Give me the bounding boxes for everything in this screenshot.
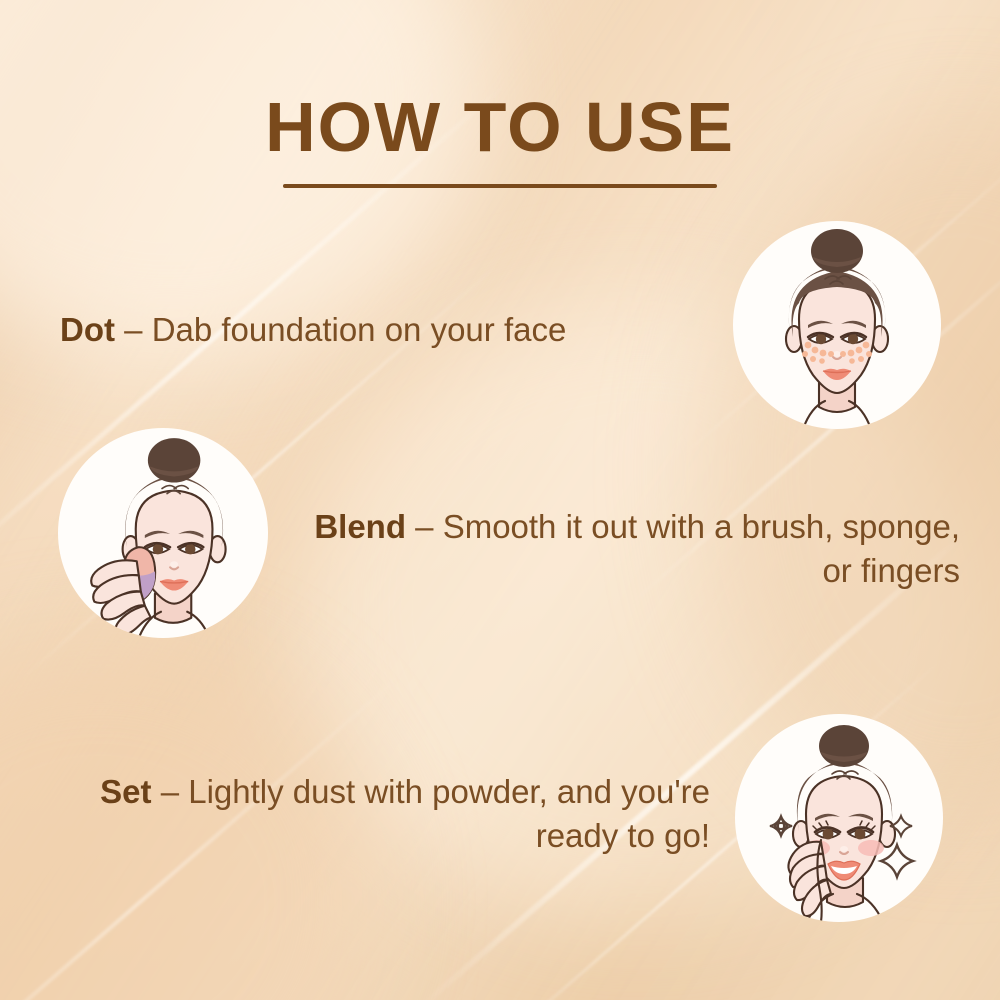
step-blend-dash: –: [415, 508, 433, 545]
step-blend-text: Blend – Smooth it out with a brush, spon…: [290, 505, 960, 592]
illustration-smiling-face-with-sparkles: [735, 714, 943, 922]
face-sponge-svg: [58, 428, 268, 638]
face-dots-svg: [733, 221, 941, 429]
step-dot-label: Dot: [60, 311, 115, 348]
how-to-use-infographic: HOW TO USE Dot – Dab foundation on your …: [0, 0, 1000, 1000]
illustration-face-with-blending-sponge: [58, 428, 268, 638]
step-dot-description: Dab foundation on your face: [152, 311, 567, 348]
step-set-description: Lightly dust with powder, and you're rea…: [188, 773, 710, 854]
illustration-face-with-foundation-dots: [733, 221, 941, 429]
step-set-label: Set: [100, 773, 151, 810]
step-blend-label: Blend: [314, 508, 406, 545]
page-title: HOW TO USE: [0, 92, 1000, 162]
step-dot-dash: –: [124, 311, 142, 348]
title-underline: [283, 184, 717, 188]
face-sparkles-svg: [735, 714, 943, 922]
step-set-text: Set – Lightly dust with powder, and you'…: [40, 770, 710, 857]
step-set-dash: –: [161, 773, 179, 810]
step-dot-text: Dot – Dab foundation on your face: [60, 308, 720, 352]
step-dot-dash-space: [115, 311, 124, 348]
step-blend-description: Smooth it out with a brush, sponge, or f…: [443, 508, 960, 589]
page-title-block: HOW TO USE: [0, 92, 1000, 188]
